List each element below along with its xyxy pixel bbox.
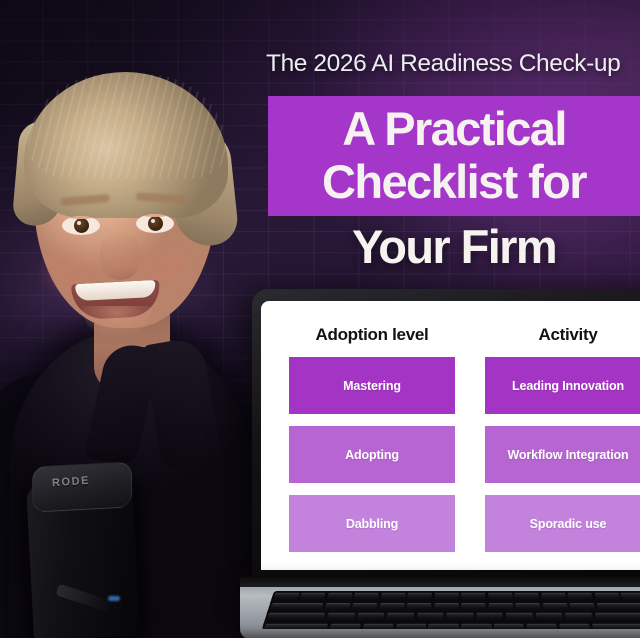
keyboard-row xyxy=(268,603,640,611)
presenter-eye-left xyxy=(62,216,100,235)
keyboard-key xyxy=(356,613,384,621)
keyboard-key xyxy=(386,613,414,621)
table-header-row: Adoption level Activity xyxy=(289,325,640,345)
keyboard-key xyxy=(515,603,540,611)
keyboard-row xyxy=(271,593,640,600)
laptop: Adoption level Activity Mastering Leadin… xyxy=(252,289,640,638)
table-row: Adopting Workflow Integration xyxy=(289,426,640,483)
keyboard-key xyxy=(434,603,459,611)
keyboard-key xyxy=(541,593,566,600)
cell-activity-workflow-integration: Workflow Integration xyxy=(485,426,640,483)
keyboard-key xyxy=(416,613,443,621)
keyboard-key xyxy=(300,593,326,600)
keyboard-key xyxy=(327,613,356,621)
table-header-adoption-level: Adoption level xyxy=(289,325,455,345)
table-row: Dabbling Sporadic use xyxy=(289,495,640,552)
keyboard-key xyxy=(506,613,534,621)
cell-activity-leading-innovation: Leading Innovation xyxy=(485,357,640,414)
keyboard-key xyxy=(488,603,513,611)
keyboard-key xyxy=(568,593,594,600)
presenter-eyelid-left xyxy=(62,216,100,219)
subtitle: The 2026 AI Readiness Check-up xyxy=(266,50,640,78)
laptop-screen: Adoption level Activity Mastering Leadin… xyxy=(261,301,640,570)
adoption-table: Adoption level Activity Mastering Leadin… xyxy=(261,301,640,570)
keyboard-key xyxy=(542,603,568,611)
keyboard-key xyxy=(381,593,406,600)
title-line-3-wrapper: Your Firm xyxy=(268,216,640,273)
laptop-keyboard xyxy=(262,591,640,630)
title-line-1: A Practical xyxy=(272,102,636,155)
keyboard-key xyxy=(594,593,620,600)
cell-level-adopting: Adopting xyxy=(289,426,455,483)
keyboard-key xyxy=(407,603,432,611)
presenter-nose xyxy=(100,232,140,280)
presenter-eye-right xyxy=(136,214,174,233)
table-row: Mastering Leading Innovation xyxy=(289,357,640,414)
keyboard-key xyxy=(621,593,640,600)
presenter-iris-right xyxy=(148,216,163,231)
microphone-led-indicator xyxy=(108,596,120,601)
keyboard-key xyxy=(407,593,432,600)
keyboard-key xyxy=(379,603,404,611)
keyboard-key xyxy=(535,613,563,621)
cell-level-dabbling: Dabbling xyxy=(289,495,455,552)
table-header-activity: Activity xyxy=(485,325,640,345)
page-title: A Practical Checklist for Your Firm xyxy=(268,96,640,273)
keyboard-key xyxy=(324,603,350,611)
cell-activity-sporadic-use: Sporadic use xyxy=(485,495,640,552)
keyboard-key xyxy=(446,613,473,621)
keyboard-key xyxy=(352,603,378,611)
keyboard-key xyxy=(514,593,539,600)
laptop-lid: Adoption level Activity Mastering Leadin… xyxy=(252,289,640,579)
keyboard-key xyxy=(273,593,299,600)
keyboard-key xyxy=(327,593,353,600)
presenter-iris-left xyxy=(74,218,89,233)
title-line-2: Checklist for xyxy=(272,155,636,208)
title-line-3: Your Firm xyxy=(268,220,640,273)
keyboard-key xyxy=(434,593,458,600)
keyboard-key-tab xyxy=(270,603,324,611)
keyboard-key xyxy=(565,613,594,621)
cell-level-mastering: Mastering xyxy=(289,357,455,414)
keyboard-key xyxy=(354,593,379,600)
laptop-base-edge xyxy=(240,629,640,638)
keyboard-key-backspace xyxy=(597,603,640,611)
keyboard-key xyxy=(476,613,503,621)
presenter-hair-strands xyxy=(28,74,226,178)
laptop-hinge xyxy=(240,577,640,587)
presenter-eyelid-right xyxy=(136,214,174,217)
keyboard-key xyxy=(569,603,595,611)
keyboard-key xyxy=(488,593,513,600)
microphone: RODE xyxy=(22,456,154,638)
keyboard-key-enter xyxy=(594,613,640,621)
keyboard-key xyxy=(461,603,486,611)
keyboard-key-caps xyxy=(267,613,326,621)
title-highlight-band: A Practical Checklist for xyxy=(268,96,640,216)
keyboard-row xyxy=(264,613,640,621)
keyboard-key xyxy=(461,593,485,600)
presenter-teeth xyxy=(75,280,156,301)
thumbnail-canvas: RODE Adoption level Activity Mastering L… xyxy=(0,0,640,638)
